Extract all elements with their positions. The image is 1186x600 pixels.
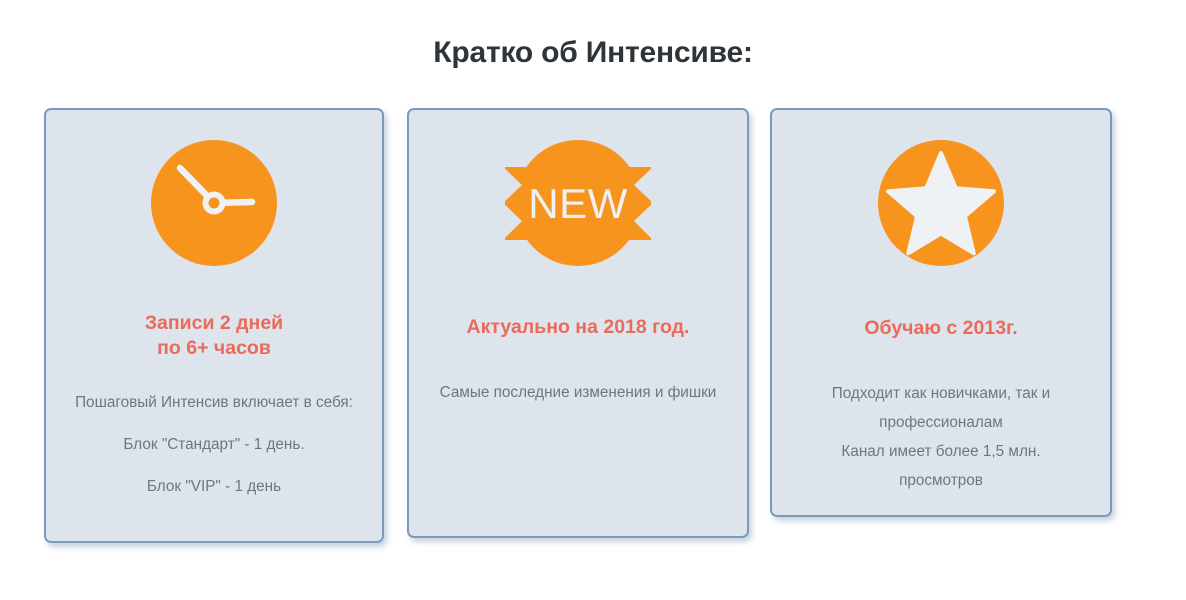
page-title: Кратко об Интенсиве: xyxy=(0,34,1186,72)
card-heading-line-1: Обучаю с 2013г. xyxy=(786,316,1096,341)
card-body-line: Самые последние изменения и фишки xyxy=(409,378,747,408)
card-heading: Записи 2 дней по 6+ часов xyxy=(46,311,382,361)
feature-card-current-year: NEW Актуально на 2018 год. Самые последн… xyxy=(407,108,749,538)
new-badge-label: NEW xyxy=(528,180,628,227)
star-icon xyxy=(878,140,1004,266)
card-heading: Обучаю с 2013г. xyxy=(772,316,1110,341)
card-body-line: Блок "Стандарт" - 1 день. xyxy=(46,430,382,460)
new-badge-icon: NEW xyxy=(503,140,653,266)
new-badge-icon-wrap: NEW xyxy=(409,140,747,300)
card-body-line: Канал имеет более 1,5 млн. просмотров xyxy=(772,437,1110,495)
card-heading-line-2: по 6+ часов xyxy=(60,336,368,361)
card-body-line: Подходит как новичками, так и профессион… xyxy=(772,379,1110,437)
star-icon-wrap xyxy=(772,140,1110,300)
feature-card-records: Записи 2 дней по 6+ часов Пошаговый Инте… xyxy=(44,108,384,543)
clock-icon xyxy=(151,140,277,266)
card-heading-line-1: Актуально на 2018 год. xyxy=(423,315,733,340)
card-body-line: Пошаговый Интенсив включает в себя: xyxy=(46,388,382,418)
feature-card-experience: Обучаю с 2013г. Подходит как новичками, … xyxy=(770,108,1112,517)
clock-icon-wrap xyxy=(46,140,382,300)
card-body-line: Блок "VIP" - 1 день xyxy=(46,472,382,502)
feature-cards-row: Записи 2 дней по 6+ часов Пошаговый Инте… xyxy=(0,108,1186,568)
card-heading-line-1: Записи 2 дней xyxy=(60,311,368,336)
card-heading: Актуально на 2018 год. xyxy=(409,315,747,340)
